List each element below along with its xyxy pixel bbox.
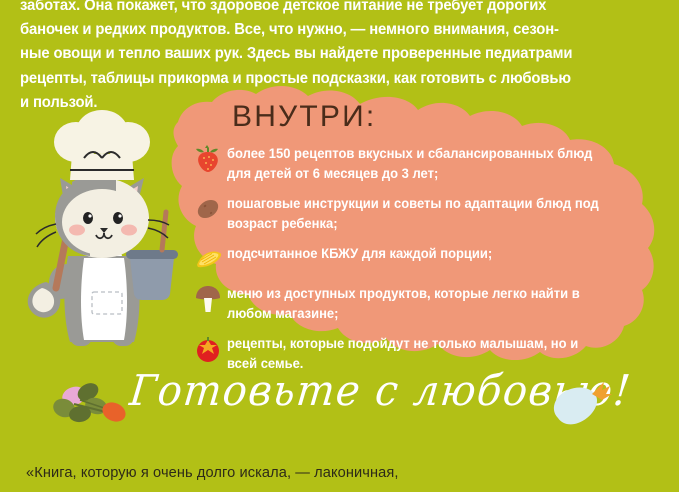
list-item: пошаговые инструкции и советы по адаптац…	[193, 193, 623, 234]
testimonial-quote: «Книга, которую я очень долго искала, — …	[26, 462, 646, 484]
list-item: подсчитанное КБЖУ для каждой порции;	[193, 243, 623, 274]
list-item-text: подсчитанное КБЖУ для каждой порции;	[227, 243, 611, 264]
intro-line-3: ные овощи и тепло ваших рук. Здесь вы на…	[20, 42, 642, 66]
tomato-icon	[193, 334, 227, 364]
strawberry-icon	[193, 144, 227, 174]
quote-line-1: «Книга, которую я очень долго искала, — …	[26, 462, 646, 484]
chef-cat-illustration	[12, 106, 192, 354]
list-item-text: меню из доступных продуктов, которые лег…	[227, 283, 611, 324]
potato-icon	[193, 194, 227, 224]
eggplant-icon	[548, 376, 618, 430]
inside-panel-title: ВНУТРИ:	[232, 100, 376, 134]
list-item: меню из доступных продуктов, которые лег…	[193, 283, 623, 324]
list-item-text: более 150 рецептов вкусных и сбалансиров…	[227, 143, 611, 184]
lemon-wedge-icon	[193, 244, 227, 274]
promo-page: заботах. Она покажет, что здоровое детск…	[0, 0, 679, 492]
list-item: более 150 рецептов вкусных и сбалансиров…	[193, 143, 623, 184]
intro-line-2: баночек и редких продуктов. Все, что нуж…	[20, 18, 642, 42]
mushroom-icon	[193, 284, 227, 314]
intro-line-1: заботах. Она покажет, что здоровое детск…	[20, 0, 642, 18]
list-item-text: пошаговые инструкции и советы по адаптац…	[227, 193, 611, 234]
inside-panel-list: более 150 рецептов вкусных и сбалансиров…	[193, 143, 623, 383]
